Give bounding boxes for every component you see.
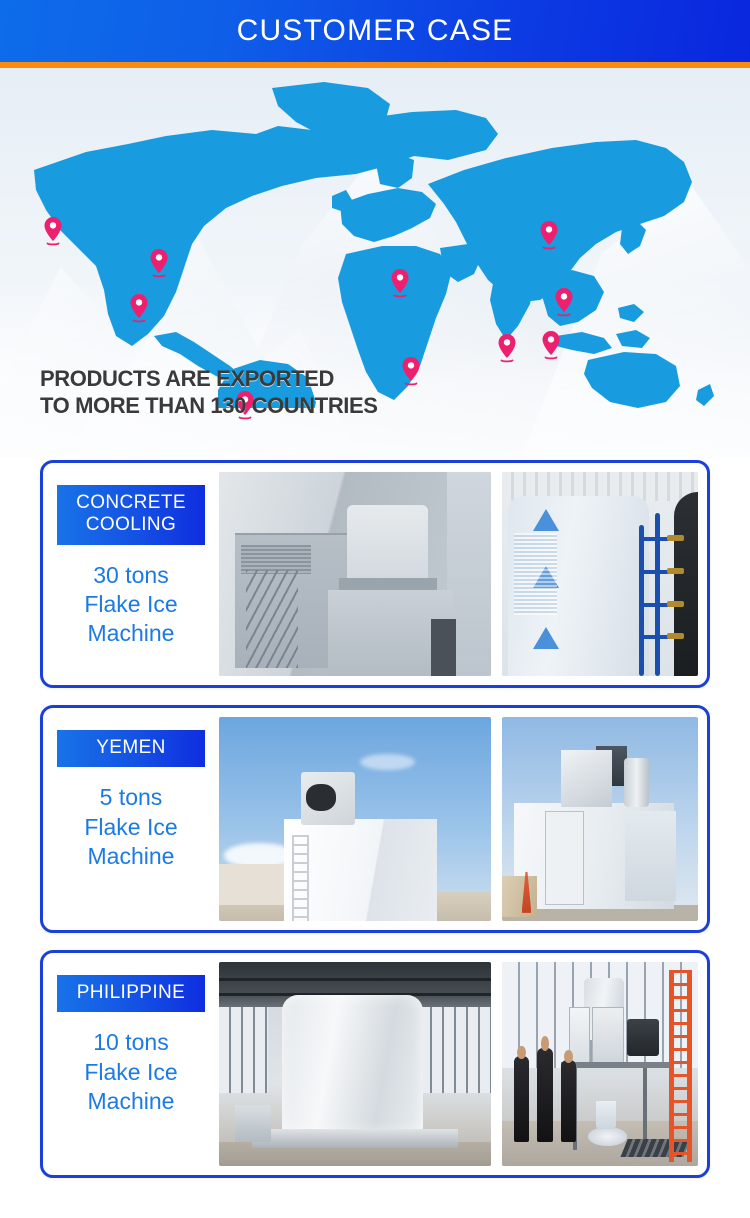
export-caption: PRODUCTS ARE EXPORTED TO MORE THAN 130 C… xyxy=(40,366,378,420)
country-badge: PHILIPPINE xyxy=(57,975,205,1012)
case-spec-text: 10 tons Flake Ice Machine xyxy=(84,1028,177,1116)
map-pin-southeast-asia[interactable] xyxy=(540,330,562,360)
case-card-concrete-cooling[interactable]: CONCRETE COOLING 30 tons Flake Ice Machi… xyxy=(40,460,710,688)
country-badge-line-2: COOLING xyxy=(61,514,201,536)
case-card-list: CONCRETE COOLING 30 tons Flake Ice Machi… xyxy=(0,460,750,1195)
case-photo-yemen-coldroom-exterior[interactable] xyxy=(219,717,491,921)
case-spec-line-2: Flake Ice xyxy=(84,813,177,842)
country-badge-line-1: YEMEN xyxy=(61,737,201,759)
country-badge-line-1: CONCRETE xyxy=(61,492,201,514)
case-card-info: PHILIPPINE 10 tons Flake Ice Machine xyxy=(43,953,219,1175)
case-spec-text: 30 tons Flake Ice Machine xyxy=(84,561,177,649)
case-spec-line-2: Flake Ice xyxy=(84,590,177,619)
case-card-info: CONCRETE COOLING 30 tons Flake Ice Machi… xyxy=(43,463,219,685)
case-card-yemen[interactable]: YEMEN 5 tons Flake Ice Machine xyxy=(40,705,710,933)
map-pin-alaska[interactable] xyxy=(42,216,64,246)
country-badge: YEMEN xyxy=(57,730,205,767)
world-map-icon xyxy=(16,78,734,408)
case-photo-group xyxy=(219,708,707,930)
export-caption-line-1: PRODUCTS ARE EXPORTED xyxy=(40,366,378,393)
map-pin-russia[interactable] xyxy=(538,220,560,250)
country-badge-line-1: PHILIPPINE xyxy=(61,982,201,1004)
case-photo-yemen-coldroom-machine[interactable] xyxy=(502,717,698,921)
case-photo-ice-storage-tank[interactable] xyxy=(502,472,698,676)
case-photo-group xyxy=(219,953,707,1175)
map-pin-usa[interactable] xyxy=(128,293,150,323)
page-title: CUSTOMER CASE xyxy=(237,14,514,48)
case-photo-concrete-cooling-plant[interactable] xyxy=(219,472,491,676)
case-card-info: YEMEN 5 tons Flake Ice Machine xyxy=(43,708,219,930)
customer-case-page: CUSTOMER CASE xyxy=(0,0,750,1218)
map-pin-china-north[interactable] xyxy=(553,287,575,317)
case-spec-text: 5 tons Flake Ice Machine xyxy=(84,783,177,871)
export-caption-line-2: TO MORE THAN 130 COUNTRIES xyxy=(40,393,378,420)
case-spec-line-3: Machine xyxy=(84,619,177,648)
map-pin-europe[interactable] xyxy=(389,268,411,298)
case-card-philippine[interactable]: PHILIPPINE 10 tons Flake Ice Machine xyxy=(40,950,710,1178)
map-pin-east-africa[interactable] xyxy=(400,356,422,386)
country-badge: CONCRETE COOLING xyxy=(57,485,205,545)
case-spec-line-3: Machine xyxy=(84,842,177,871)
map-pin-west-canada[interactable] xyxy=(148,248,170,278)
page-header: CUSTOMER CASE xyxy=(0,0,750,62)
case-spec-line-3: Machine xyxy=(84,1087,177,1116)
case-spec-line-1: 5 tons xyxy=(84,783,177,812)
case-spec-line-1: 30 tons xyxy=(84,561,177,590)
case-photo-philippine-factory-testing[interactable] xyxy=(502,962,698,1166)
case-spec-line-1: 10 tons xyxy=(84,1028,177,1057)
case-photo-philippine-packed-machine[interactable] xyxy=(219,962,491,1166)
case-spec-line-2: Flake Ice xyxy=(84,1058,177,1087)
case-photo-group xyxy=(219,463,707,685)
map-pin-india[interactable] xyxy=(496,333,518,363)
